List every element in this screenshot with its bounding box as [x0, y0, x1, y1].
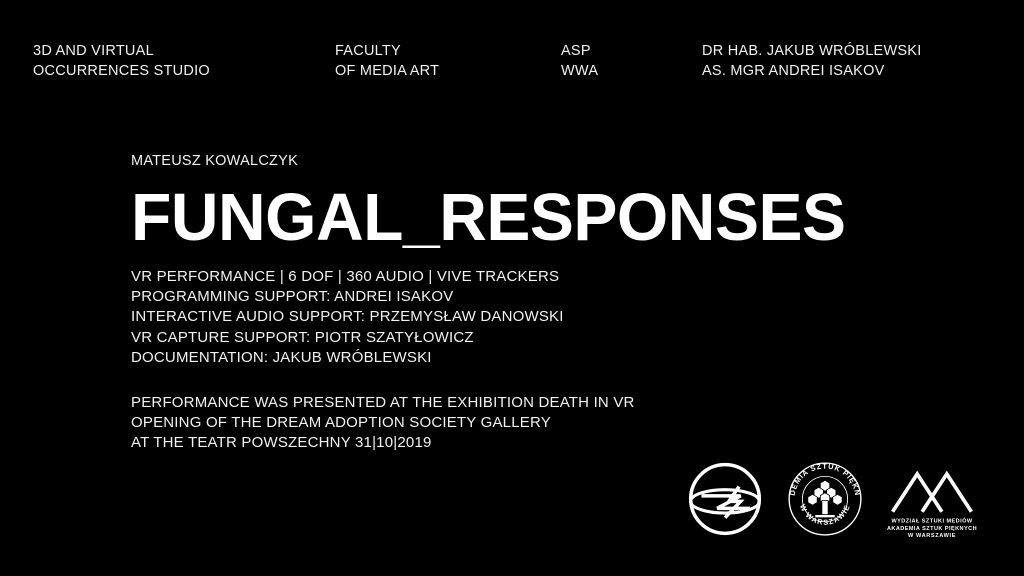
header-faculty-line1: FACULTY — [335, 42, 439, 62]
slide-main-content: MATEUSZ KOWALCZYK FUNGAL_RESPONSES VR PE… — [131, 152, 931, 454]
header-column-institution: ASP WWA — [561, 42, 598, 81]
credit-line: VR PERFORMANCE | 6 DOF | 360 AUDIO | VIV… — [131, 267, 931, 287]
exhibition-line: OPENING OF THE DREAM ADOPTION SOCIETY GA… — [131, 413, 931, 433]
academy-of-fine-arts-warsaw-seal: AKADEMIA SZTUK PIĘKNYCH W WARSZAWIE — [786, 460, 864, 538]
seal-ring-text-top: AKADEMIA SZTUK PIĘKNYCH — [786, 460, 862, 497]
circle-bolt-icon — [686, 460, 764, 538]
exhibition-line: AT THE TEATR POWSZECHNY 31|10|2019 — [131, 433, 931, 453]
credit-line: INTERACTIVE AUDIO SUPPORT: PRZEMYSŁAW DA… — [131, 307, 931, 327]
header-faculty-line2: OF MEDIA ART — [335, 62, 439, 82]
header-institution-line1: ASP — [561, 42, 598, 62]
seal-tree-emblem — [808, 480, 842, 517]
header-column-studio: 3D AND VIRTUAL OCCURRENCES STUDIO — [33, 42, 210, 81]
author-name: MATEUSZ KOWALCZYK — [131, 152, 931, 171]
faculty-logo-line2: AKADEMIA SZTUK PIĘKNYCH — [887, 526, 977, 532]
credit-line: PROGRAMMING SUPPORT: ANDREI ISAKOV — [131, 287, 931, 307]
header-column-faculty: FACULTY OF MEDIA ART — [335, 42, 439, 81]
header-studio-line1: 3D AND VIRTUAL — [33, 42, 210, 62]
faculty-logo-line1: WYDZIAŁ SZTUKI MEDIÓW — [891, 516, 972, 524]
exhibition-info-list: PERFORMANCE WAS PRESENTED AT THE EXHIBIT… — [131, 393, 931, 454]
dream-adoption-society-logo — [686, 460, 764, 538]
header-institution-line2: WWA — [561, 62, 598, 82]
faculty-logo-line3: W WARSZAWIE — [908, 533, 956, 538]
exhibition-line: PERFORMANCE WAS PRESENTED AT THE EXHIBIT… — [131, 393, 931, 413]
header-column-supervisors: DR HAB. JAKUB WRÓBLEWSKI AS. MGR ANDREI … — [702, 42, 922, 81]
double-peak-monogram-icon: WYDZIAŁ SZTUKI MEDIÓW AKADEMIA SZTUK PIĘ… — [886, 460, 978, 538]
credit-line: DOCUMENTATION: JAKUB WRÓBLEWSKI — [131, 348, 931, 368]
header-studio-line2: OCCURRENCES STUDIO — [33, 62, 210, 82]
credit-line: VR CAPTURE SUPPORT: PIOTR SZATYŁOWICZ — [131, 328, 931, 348]
credits-list: VR PERFORMANCE | 6 DOF | 360 AUDIO | VIV… — [131, 267, 931, 368]
logo-row: AKADEMIA SZTUK PIĘKNYCH W WARSZAWIE — [686, 460, 1006, 540]
page-title: FUNGAL_RESPONSES — [131, 185, 919, 251]
presentation-slide: 3D AND VIRTUAL OCCURRENCES STUDIO FACULT… — [0, 0, 1024, 576]
faculty-of-media-art-logo: WYDZIAŁ SZTUKI MEDIÓW AKADEMIA SZTUK PIĘ… — [886, 460, 978, 538]
header-supervisors-line2: AS. MGR ANDREI ISAKOV — [702, 62, 922, 82]
header-supervisors-line1: DR HAB. JAKUB WRÓBLEWSKI — [702, 42, 922, 62]
circular-seal-tree-icon: AKADEMIA SZTUK PIĘKNYCH W WARSZAWIE — [786, 460, 864, 538]
slide-header: 3D AND VIRTUAL OCCURRENCES STUDIO FACULT… — [33, 42, 993, 92]
